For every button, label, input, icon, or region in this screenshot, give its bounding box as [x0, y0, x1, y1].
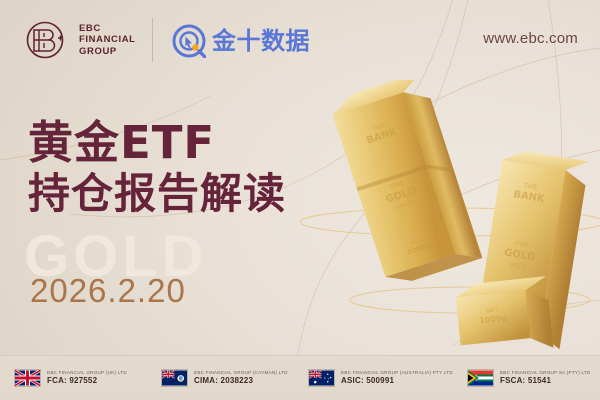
- regulatory-footer: EBC FINANCIAL GROUP (UK) LTD FCA: 927552: [0, 355, 600, 400]
- svg-text:金十数据: 金十数据: [212, 27, 310, 55]
- jin10-wordmark: 金十数据: [212, 26, 334, 56]
- entity-license: ASIC: 500991: [341, 376, 453, 386]
- logo-divider: [152, 18, 153, 62]
- entity-license: FSCA: 51541: [500, 376, 591, 386]
- flag-south-africa-icon: [467, 369, 494, 387]
- entity-license: FCA: 927552: [47, 376, 127, 386]
- report-date: 2026.2.20: [30, 272, 186, 310]
- jin10-partner-logo[interactable]: 金十数据: [172, 24, 334, 58]
- regulatory-entity-uk: EBC FINANCIAL GROUP (UK) LTD FCA: 927552: [0, 369, 147, 387]
- flag-united-kingdom-icon: [14, 369, 41, 387]
- website-url[interactable]: www.ebc.com: [483, 30, 578, 47]
- headline-block: 黄金ETF 持仓报告解读: [28, 118, 358, 218]
- regulatory-entity-south-africa: EBC FINANCIAL GROUP SA (PTY) LTD FSCA: 5…: [453, 369, 600, 387]
- ebc-word-line2: FINANCIAL: [79, 34, 136, 46]
- header-bar: EBC FINANCIAL GROUP 金十数据 www.ebc.com: [0, 0, 600, 88]
- flag-australia-icon: [308, 369, 335, 387]
- page-title-line-1: 黄金ETF: [28, 118, 358, 168]
- ebc-brand-wordmark: EBC FINANCIAL GROUP: [79, 23, 136, 58]
- ebc-word-line1: EBC: [79, 23, 136, 35]
- flag-cayman-islands-icon: [161, 369, 188, 387]
- jin10-target-icon: [172, 24, 206, 58]
- regulatory-entity-australia: EBC FINANCIAL GROUP (AUSTRALIA) PTY LTD …: [294, 369, 453, 387]
- page-title-line-2: 持仓报告解读: [28, 170, 358, 218]
- ebc-brand-logo[interactable]: EBC FINANCIAL GROUP: [22, 16, 136, 64]
- ebc-monogram-icon: [22, 16, 70, 64]
- svg-text:NET: NET: [486, 306, 499, 314]
- poster-canvas: EBC FINANCIAL GROUP 金十数据 www.ebc.com: [0, 0, 600, 400]
- regulatory-entity-cayman: EBC FINANCIAL GROUP (CAYMAN) LTD CIMA: 2…: [147, 369, 294, 387]
- ebc-word-line3: GROUP: [79, 46, 136, 58]
- entity-license: CIMA: 2038223: [194, 376, 288, 386]
